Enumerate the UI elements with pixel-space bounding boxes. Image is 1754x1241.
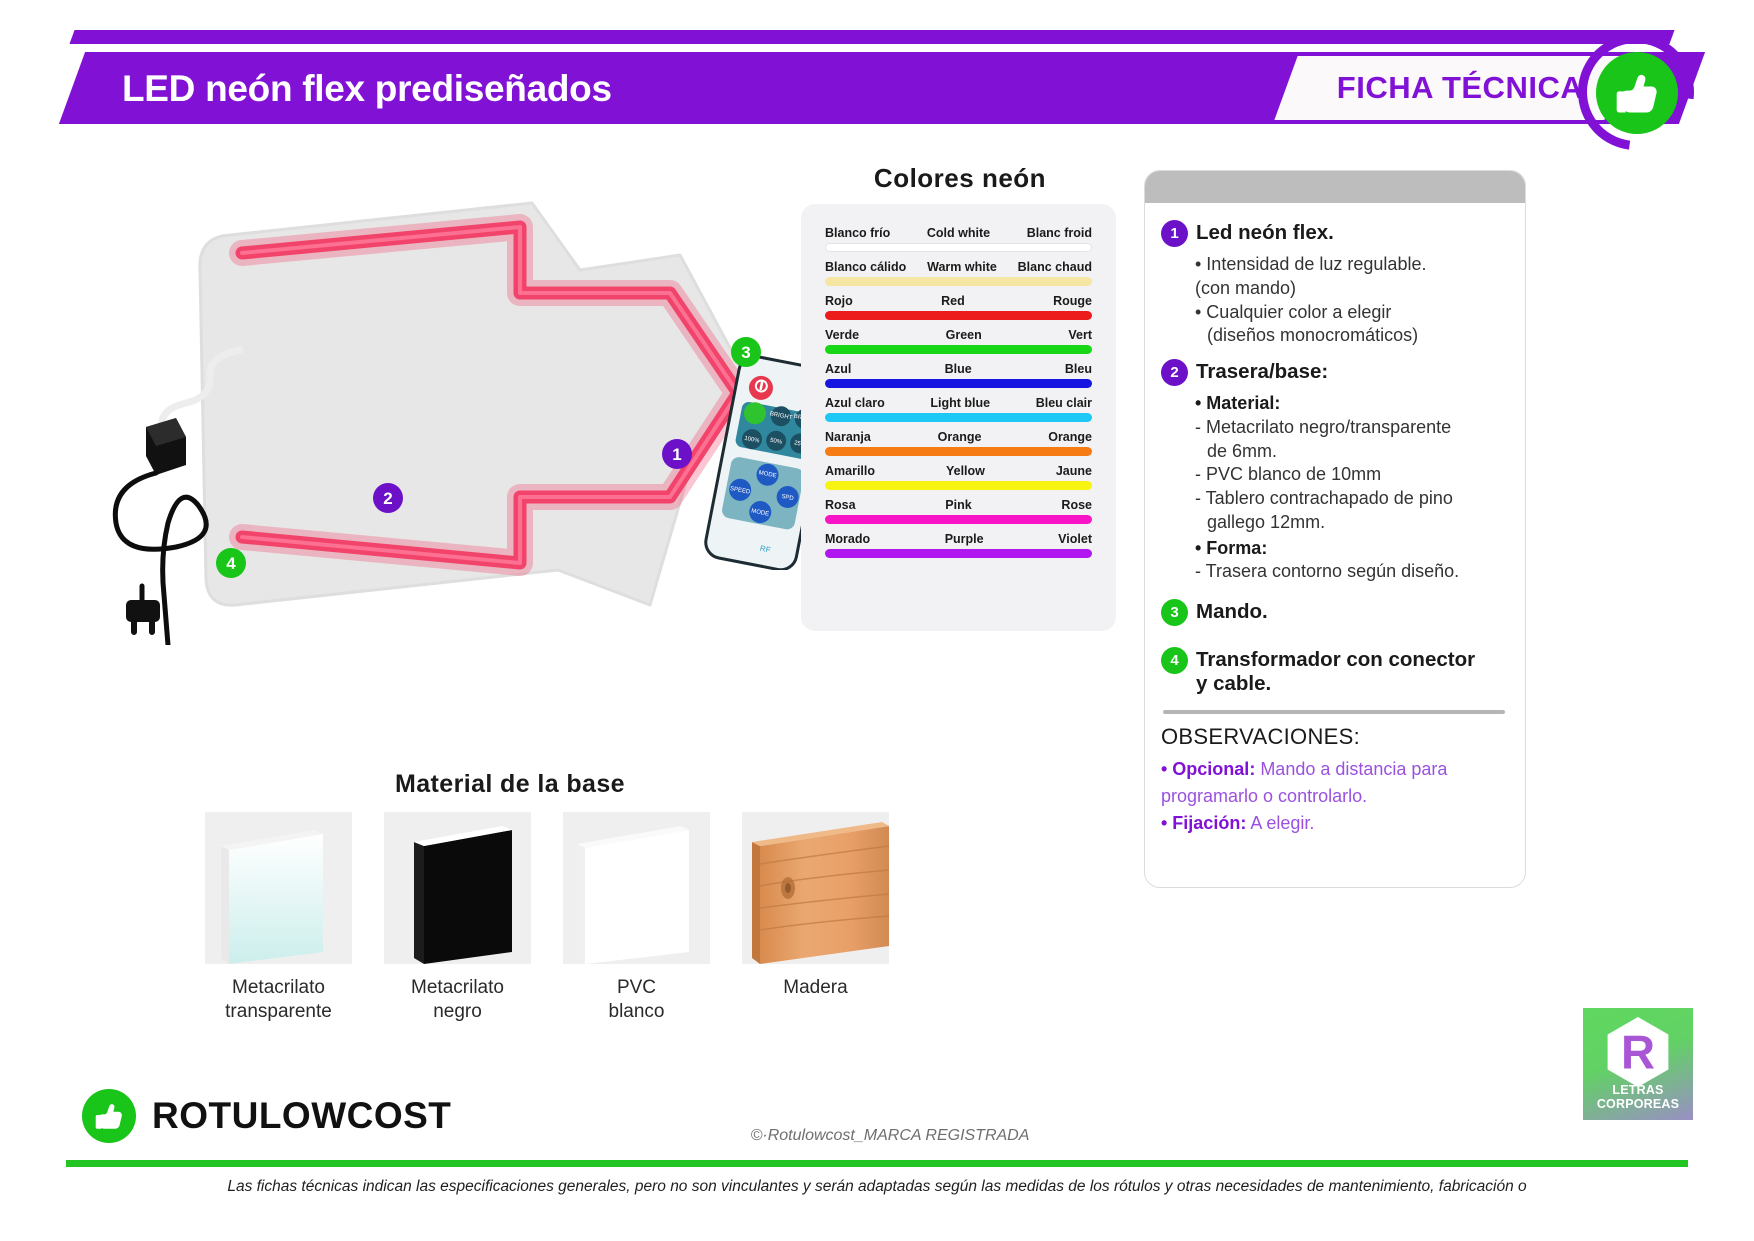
material-caption: Metacrilato negro: [384, 976, 531, 1024]
material-item-wood[interactable]: Madera: [742, 812, 889, 1042]
spec-item-2: 2 Trasera/base:: [1161, 358, 1507, 386]
hexagon-icon: R: [1600, 1014, 1676, 1090]
color-name-en: Yellow: [946, 464, 985, 478]
transformer-block: [146, 418, 186, 475]
material-caption-line1: Madera: [742, 976, 889, 1000]
callout-marker-2: 2: [373, 483, 403, 513]
spec-item-1: 1 Led neón flex.: [1161, 219, 1507, 247]
color-name-fr: Blanc chaud: [1018, 260, 1092, 274]
arrow-sign-graphic: [90, 175, 790, 645]
spec-title: Transformador con conector y cable.: [1196, 646, 1475, 696]
letras-corporeas-badge: R LETRAS CORPOREAS: [1583, 1008, 1693, 1120]
corp-line1: LETRAS: [1597, 1084, 1679, 1098]
thumbs-up-icon: [92, 1099, 126, 1133]
color-swatch-bar: [825, 481, 1092, 490]
acrylic-black-panel-icon: [384, 812, 531, 964]
material-line: - PVC blanco de 10mm: [1195, 463, 1507, 487]
color-name-fr: Violet: [1058, 532, 1092, 546]
corp-line2: CORPOREAS: [1597, 1098, 1679, 1112]
header-top-rule: [69, 30, 1674, 44]
spec-title: Mando.: [1196, 598, 1268, 624]
copyright-text: ©·Rotulowcost_MARCA REGISTRADA: [520, 1127, 1260, 1145]
color-name-es: Verde: [825, 328, 859, 342]
material-item-acrylic-clear[interactable]: Metacrilato transparente: [205, 812, 352, 1042]
specifications-panel: 1 Led neón flex. • Intensidad de luz reg…: [1144, 170, 1526, 888]
corp-letter: R: [1621, 1026, 1655, 1079]
panel-divider: [1163, 710, 1505, 714]
ficha-tecnica-label: FICHA TÉCNICA: [1320, 58, 1600, 118]
callout-marker-1: 1: [662, 439, 692, 469]
color-name-fr: Vert: [1068, 328, 1092, 342]
callout-marker-4: 4: [216, 548, 246, 578]
material-line: - Tablero contrachapado de pino: [1195, 487, 1507, 511]
neon-colors-card: Blanco frío Cold white Blanc froid Blanc…: [801, 204, 1116, 631]
footer-brand: ROTULOWCOST: [82, 1089, 451, 1143]
spec-note: (diseños monocromáticos): [1195, 324, 1507, 348]
color-name-es: Naranja: [825, 430, 871, 444]
color-row: Rojo Red Rouge: [825, 294, 1092, 320]
acrylic-clear-panel-icon: [205, 812, 352, 964]
observation-line: • Opcional: Mando a distancia para: [1161, 758, 1507, 782]
observation-key: • Opcional:: [1161, 759, 1255, 779]
color-row: Naranja Orange Orange: [825, 430, 1092, 456]
observation-key: • Fijación:: [1161, 813, 1246, 833]
color-name-en: Pink: [945, 498, 971, 512]
color-name-fr: Rose: [1061, 498, 1092, 512]
power-plug-graphic: [112, 580, 192, 640]
spec-title-line2: y cable.: [1196, 672, 1475, 696]
color-swatch-bar: [825, 447, 1092, 456]
datasheet-page: LED neón flex prediseñados FICHA TÉCNICA: [0, 0, 1754, 1241]
color-swatch-bar: [825, 515, 1092, 524]
material-caption-line2: transparente: [205, 1000, 352, 1024]
material-label: • Material:: [1195, 392, 1507, 416]
color-name-es: Azul claro: [825, 396, 885, 410]
panel-body: 1 Led neón flex. • Intensidad de luz reg…: [1145, 203, 1525, 849]
material-caption-line1: Metacrilato: [205, 976, 352, 1000]
color-row: Blanco frío Cold white Blanc froid: [825, 226, 1092, 252]
footer-logo-icon: [82, 1089, 136, 1143]
material-caption: PVC blanco: [563, 976, 710, 1024]
color-name-fr: Bleu: [1065, 362, 1092, 376]
color-row: Verde Green Vert: [825, 328, 1092, 354]
thumbs-up-icon: [1611, 67, 1663, 119]
spec-title-line1: Transformador con conector: [1196, 648, 1475, 672]
spec-bullet: • Intensidad de luz regulable.: [1195, 253, 1507, 277]
spec-number-badge: 3: [1161, 599, 1188, 626]
materials-row: Metacrilato transparente Metacrilato neg…: [205, 812, 865, 1042]
wood-panel-icon: [742, 812, 889, 964]
observation-line: programarlo o controlarlo.: [1161, 785, 1507, 809]
spec-number-badge: 2: [1161, 359, 1188, 386]
material-caption: Madera: [742, 976, 889, 1000]
material-line: - Metacrilato negro/transparente: [1195, 416, 1507, 440]
color-swatch-bar: [825, 345, 1092, 354]
color-name-en: Light blue: [930, 396, 990, 410]
material-caption-line2: negro: [384, 1000, 531, 1024]
neon-sign-illustration: 1 2 4: [90, 175, 790, 645]
color-name-fr: Orange: [1048, 430, 1092, 444]
color-name-fr: Jaune: [1056, 464, 1092, 478]
spec-bullet: • Cualquier color a elegir: [1195, 301, 1507, 325]
color-row: Azul claro Light blue Bleu clair: [825, 396, 1092, 422]
color-name-es: Amarillo: [825, 464, 875, 478]
observation-value: A elegir.: [1246, 813, 1314, 833]
color-row: Azul Blue Bleu: [825, 362, 1092, 388]
material-item-pvc-white[interactable]: PVC blanco: [563, 812, 710, 1042]
color-name-en: Warm white: [927, 260, 997, 274]
color-name-fr: Bleu clair: [1036, 396, 1092, 410]
observations-heading: OBSERVACIONES:: [1161, 724, 1507, 750]
panel-header-bar: [1145, 171, 1525, 203]
color-swatch-bar: [825, 277, 1092, 286]
forma-label: • Forma:: [1195, 537, 1507, 561]
color-name-es: Blanco frío: [825, 226, 890, 240]
material-swatch: [384, 812, 531, 964]
color-name-fr: Blanc froid: [1027, 226, 1092, 240]
color-row: Morado Purple Violet: [825, 532, 1092, 558]
color-name-en: Green: [946, 328, 982, 342]
footer-green-rule: [66, 1160, 1688, 1167]
material-caption: Metacrilato transparente: [205, 976, 352, 1024]
spec-number-badge: 1: [1161, 220, 1188, 247]
material-line: de 6mm.: [1195, 440, 1507, 464]
spec-title: Led neón flex.: [1196, 219, 1334, 245]
page-header: LED neón flex prediseñados FICHA TÉCNICA: [0, 0, 1754, 160]
spec-note: (con mando): [1195, 277, 1507, 301]
spec-item-1-details: • Intensidad de luz regulable. (con mand…: [1195, 253, 1507, 348]
brand-logo-icon: [1596, 52, 1678, 134]
materials-section-title: Material de la base: [190, 770, 830, 799]
spec-number-badge: 4: [1161, 647, 1188, 674]
color-name-es: Rosa: [825, 498, 856, 512]
material-swatch: [563, 812, 710, 964]
color-name-es: Azul: [825, 362, 851, 376]
material-caption-line1: Metacrilato: [384, 976, 531, 1000]
footer-brand-name: ROTULOWCOST: [152, 1095, 451, 1137]
corp-badge-text: LETRAS CORPOREAS: [1597, 1084, 1679, 1111]
color-row: Rosa Pink Rose: [825, 498, 1092, 524]
color-swatch-bar: [825, 311, 1092, 320]
color-swatch-bar: [825, 243, 1092, 252]
page-title: LED neón flex prediseñados: [122, 60, 1022, 118]
material-swatch: [205, 812, 352, 964]
observation-value: Mando a distancia para: [1255, 759, 1447, 779]
pvc-white-panel-icon: [563, 812, 710, 964]
colors-section-title: Colores neón: [800, 163, 1120, 194]
material-swatch: [742, 812, 889, 964]
material-caption-line1: PVC: [563, 976, 710, 1000]
material-item-acrylic-black[interactable]: Metacrilato negro: [384, 812, 531, 1042]
color-row: Amarillo Yellow Jaune: [825, 464, 1092, 490]
color-name-en: Blue: [945, 362, 972, 376]
spec-item-3: 3 Mando.: [1161, 598, 1507, 626]
color-name-es: Rojo: [825, 294, 853, 308]
color-name-es: Morado: [825, 532, 870, 546]
color-row: Blanco cálido Warm white Blanc chaud: [825, 260, 1092, 286]
color-name-es: Blanco cálido: [825, 260, 906, 274]
spec-title: Trasera/base:: [1196, 358, 1328, 384]
color-name-en: Orange: [938, 430, 982, 444]
spec-item-4: 4 Transformador con conector y cable.: [1161, 646, 1507, 696]
color-name-en: Cold white: [927, 226, 990, 240]
disclaimer-text: Las fichas técnicas indican las especifi…: [66, 1178, 1688, 1196]
color-name-fr: Rouge: [1053, 294, 1092, 308]
forma-line: - Trasera contorno según diseño.: [1195, 560, 1507, 584]
callout-marker-3: 3: [731, 337, 761, 367]
color-swatch-bar: [825, 549, 1092, 558]
color-name-en: Purple: [945, 532, 984, 546]
color-swatch-bar: [825, 413, 1092, 422]
color-swatch-bar: [825, 379, 1092, 388]
observation-value: programarlo o controlarlo.: [1161, 786, 1367, 806]
material-caption-line2: blanco: [563, 1000, 710, 1024]
spec-item-2-details: • Material: - Metacrilato negro/transpar…: [1195, 392, 1507, 584]
color-name-en: Red: [941, 294, 965, 308]
observation-line: • Fijación: A elegir.: [1161, 812, 1507, 836]
material-line: gallego 12mm.: [1195, 511, 1507, 535]
